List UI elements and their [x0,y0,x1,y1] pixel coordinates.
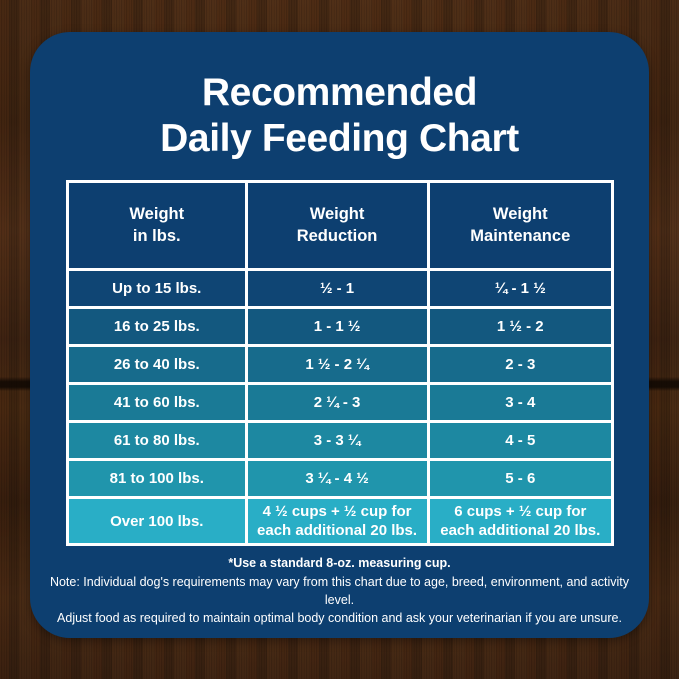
cell-weight-reduction: 2 ¼ - 3 [248,385,430,423]
header-maintenance-line-1: Weight [493,205,548,223]
header-reduction-line-1: Weight [310,205,365,223]
cell-weight-maintenance: 4 - 5 [430,423,611,461]
cell-weight-maintenance: 6 cups + ½ cup for each additional 20 lb… [430,499,611,543]
cell-maintenance-line-2: each additional 20 lbs. [436,521,605,540]
cell-weight-maintenance: 5 - 6 [430,461,611,499]
cell-weight-maintenance: 2 - 3 [430,347,611,385]
cell-weight-range: 81 to 100 lbs. [69,461,248,499]
column-header-weight: Weight in lbs. [69,183,248,271]
table-row: 16 to 25 lbs. 1 - 1 ½ 1 ½ - 2 [69,309,611,347]
table-row: 61 to 80 lbs. 3 - 3 ¼ 4 - 5 [69,423,611,461]
column-header-weight-maintenance: Weight Maintenance [430,183,611,271]
cell-reduction-line-2: each additional 20 lbs. [254,521,421,540]
header-weight-line-1: Weight [129,205,184,223]
cell-reduction-line-1: 4 ½ cups + ½ cup for [254,502,421,521]
column-header-weight-reduction: Weight Reduction [248,183,430,271]
footnote-note-line-1: Note: Individual dog's requirements may … [48,573,631,609]
cell-weight-reduction: 1 - 1 ½ [248,309,430,347]
cell-weight-range: 16 to 25 lbs. [69,309,248,347]
table-header-row: Weight in lbs. Weight Reduction Weight M… [69,183,611,271]
cell-weight-maintenance: 3 - 4 [430,385,611,423]
cell-weight-range: Up to 15 lbs. [69,271,248,309]
page-title: Recommended Daily Feeding Chart [30,32,649,161]
table-row: Over 100 lbs. 4 ½ cups + ½ cup for each … [69,499,611,543]
header-reduction-line-2: Reduction [297,227,378,245]
cell-weight-reduction: 1 ½ - 2 ¼ [248,347,430,385]
table-row: 41 to 60 lbs. 2 ¼ - 3 3 - 4 [69,385,611,423]
cell-weight-reduction: 3 ¼ - 4 ½ [248,461,430,499]
footnote-measuring-cup: *Use a standard 8-oz. measuring cup. [48,556,631,570]
cell-weight-range: 26 to 40 lbs. [69,347,248,385]
cell-weight-range: 41 to 60 lbs. [69,385,248,423]
cell-weight-maintenance: 1 ½ - 2 [430,309,611,347]
title-line-2: Daily Feeding Chart [30,116,649,162]
footnote-note-line-2: Adjust food as required to maintain opti… [48,609,631,627]
header-weight-line-2: in lbs. [133,227,181,245]
cell-weight-maintenance: ¼ - 1 ½ [430,271,611,309]
cell-weight-range: Over 100 lbs. [69,499,248,543]
feeding-chart-card: Recommended Daily Feeding Chart Weight i… [30,32,649,638]
cell-weight-reduction: ½ - 1 [248,271,430,309]
cell-maintenance-line-1: 6 cups + ½ cup for [436,502,605,521]
header-maintenance-line-2: Maintenance [470,227,570,245]
cell-weight-range: 61 to 80 lbs. [69,423,248,461]
cell-weight-reduction: 3 - 3 ¼ [248,423,430,461]
table-row: 26 to 40 lbs. 1 ½ - 2 ¼ 2 - 3 [69,347,611,385]
feeding-chart-table: Weight in lbs. Weight Reduction Weight M… [66,180,614,546]
footnotes: *Use a standard 8-oz. measuring cup. Not… [48,556,631,627]
title-line-1: Recommended [30,70,649,116]
table-row: Up to 15 lbs. ½ - 1 ¼ - 1 ½ [69,271,611,309]
cell-weight-reduction: 4 ½ cups + ½ cup for each additional 20 … [248,499,430,543]
table-row: 81 to 100 lbs. 3 ¼ - 4 ½ 5 - 6 [69,461,611,499]
